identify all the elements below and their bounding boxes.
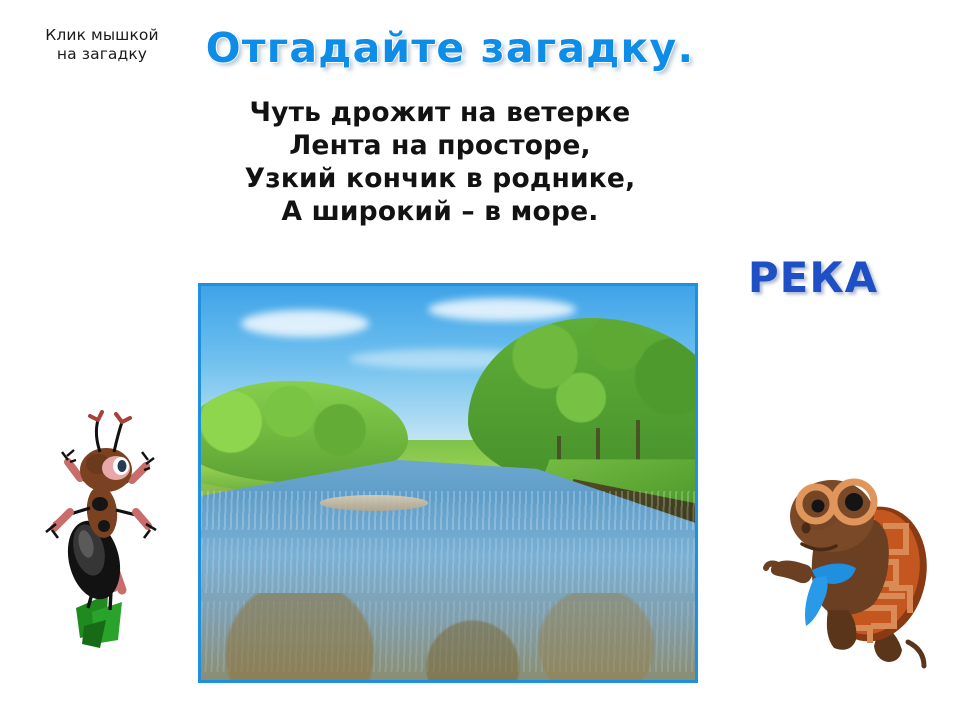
click-hint-text: Клик мышкой на загадку	[12, 26, 192, 64]
leaf-icon	[76, 594, 122, 648]
ant-character[interactable]	[36, 412, 176, 652]
cloud-shape	[241, 310, 369, 338]
slide-canvas: Клик мышкой на загадку Отгадайте загадку…	[0, 0, 960, 720]
gravel-shoal	[320, 495, 429, 511]
water-ripples	[201, 538, 695, 593]
ant-illustration	[36, 412, 176, 652]
page-title: Отгадайте загадку.	[200, 24, 700, 72]
click-hint-line-2: на загадку	[12, 45, 192, 64]
water-ripples	[201, 491, 695, 530]
riddle-line: Лента на просторе,	[180, 129, 700, 162]
turtle-illustration	[762, 452, 942, 682]
river-photo[interactable]	[198, 283, 698, 683]
riddle-line: Узкий кончик в роднике,	[180, 162, 700, 195]
eye-right	[845, 493, 863, 511]
riddle-text[interactable]: Чуть дрожит на ветерке Лента на просторе…	[180, 96, 700, 228]
riverbed-stones	[201, 593, 695, 680]
click-hint-line-1: Клик мышкой	[12, 26, 192, 45]
riddle-line: А широкий – в море.	[180, 195, 700, 228]
turtle-character[interactable]	[762, 452, 942, 682]
riddle-answer: РЕКА	[718, 253, 908, 302]
eye-left	[812, 500, 825, 513]
river-photo-image	[201, 286, 695, 680]
riddle-line: Чуть дрожит на ветерке	[180, 96, 700, 129]
